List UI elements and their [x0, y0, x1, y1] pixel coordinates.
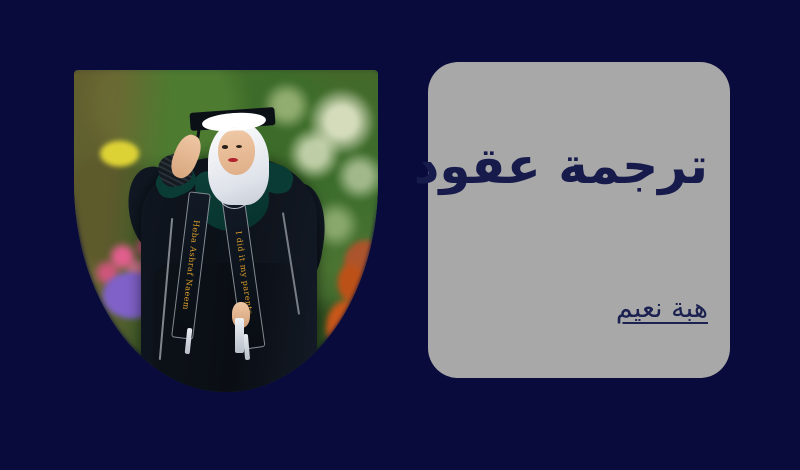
diploma-scroll	[235, 318, 244, 353]
face	[218, 130, 254, 175]
eye-left	[222, 145, 228, 148]
graduate-photo: Heba Ashraf Naeem I did it my parents	[74, 70, 378, 392]
slide-canvas: Heba Ashraf Naeem I did it my parents تر…	[0, 0, 800, 470]
author-name: هبة نعيم	[616, 294, 708, 324]
title-card: ترجمة عقود هبة نعيم	[428, 62, 730, 378]
page-title: ترجمة عقود	[450, 140, 708, 193]
graduate-figure: Heba Ashraf Naeem I did it my parents	[74, 70, 378, 392]
eye-right	[236, 145, 242, 148]
